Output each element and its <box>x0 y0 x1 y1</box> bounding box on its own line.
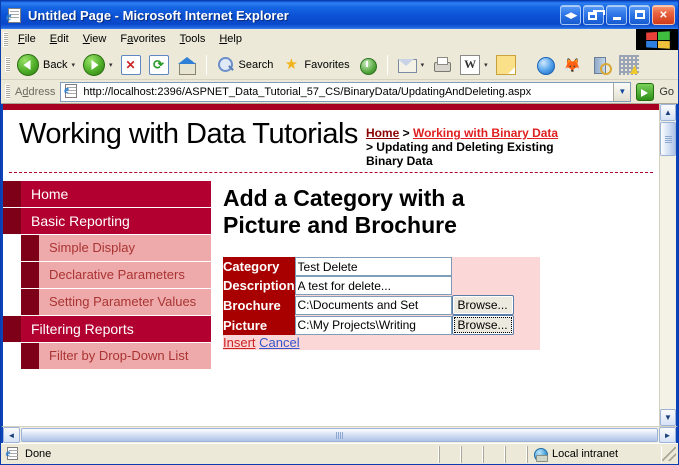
table-row: Brochure Browse... <box>223 295 540 315</box>
main-content: Add a Category with a Picture and Brochu… <box>211 173 659 350</box>
label-brochure: Brochure <box>223 295 295 315</box>
cell-category-input <box>295 257 452 276</box>
history-icon <box>358 55 378 75</box>
label-picture: Picture <box>223 315 295 335</box>
restore-down-button[interactable] <box>583 5 604 25</box>
horizontal-scrollbar[interactable]: ◄ ► <box>1 426 678 443</box>
scroll-down-button[interactable]: ▼ <box>660 409 676 426</box>
sidebar-item-declarative-parameters[interactable]: Declarative Parameters <box>39 262 211 289</box>
sidebar-item-setting-parameter-values[interactable]: Setting Parameter Values <box>39 289 211 316</box>
form-actions: Insert Cancel <box>223 335 540 350</box>
messenger-button[interactable] <box>531 53 559 77</box>
toolbar-separator-2 <box>387 55 388 75</box>
notes-icon <box>496 55 516 75</box>
close-button[interactable]: ✕ <box>652 5 675 25</box>
status-message: e Done <box>1 446 439 463</box>
title-bar: e Untitled Page - Microsoft Internet Exp… <box>1 1 678 29</box>
mail-dropdown-caret[interactable]: ▾ <box>421 61 425 69</box>
stop-icon <box>121 55 141 75</box>
browser-window: e Untitled Page - Microsoft Internet Exp… <box>0 0 679 465</box>
category-insert-form: Category Description <box>223 257 540 350</box>
breadcrumb: Home > Working with Binary Data > Updati… <box>358 114 573 168</box>
go-arrow-icon <box>635 82 655 102</box>
msn-button[interactable] <box>615 53 643 77</box>
forward-arrow-icon <box>83 54 105 76</box>
back-dropdown-caret[interactable]: ▾ <box>71 61 75 69</box>
search-icon <box>216 55 236 75</box>
status-pane-3 <box>483 446 505 463</box>
toolbar-separator <box>206 55 207 75</box>
word-edit-icon <box>460 55 480 75</box>
restore-down-icon <box>588 12 597 20</box>
go-label: Go <box>659 86 674 98</box>
address-input[interactable]: e http://localhost:2396/ASPNET_Data_Tuto… <box>60 82 631 102</box>
search-button[interactable]: Search <box>212 53 278 77</box>
table-row: Picture Browse... <box>223 315 540 335</box>
address-dropdown-button[interactable]: ▼ <box>613 83 630 101</box>
print-button[interactable] <box>428 53 456 77</box>
status-text: Done <box>25 448 51 460</box>
sidebar-item-filter-by-drop-down-list[interactable]: Filter by Drop-Down List <box>39 343 211 370</box>
horizontal-scroll-thumb[interactable] <box>21 428 658 442</box>
back-button[interactable]: Back ▾ <box>13 52 79 78</box>
insert-link[interactable]: Insert <box>223 335 256 350</box>
word-dropdown-caret[interactable]: ▾ <box>484 61 488 69</box>
notes-button[interactable] <box>492 53 520 77</box>
star-icon: ★ <box>281 55 301 75</box>
vertical-scroll-track[interactable] <box>660 157 676 409</box>
menu-view[interactable]: View <box>76 31 114 47</box>
vertical-scrollbar[interactable]: ▲ ▼ <box>659 104 676 426</box>
research-button[interactable] <box>587 53 615 77</box>
favorites-label: Favorites <box>304 59 349 71</box>
category-input[interactable] <box>295 257 452 276</box>
mail-button[interactable]: ▾ <box>393 53 429 77</box>
msn-toolbar-icon <box>619 55 639 75</box>
fox-button[interactable]: 🦊 <box>559 53 587 77</box>
globe-zone-icon <box>533 447 548 462</box>
page-body: Home Basic Reporting Simple Display Decl… <box>3 173 659 370</box>
maximize-icon <box>635 10 645 19</box>
page-viewport: Working with Data Tutorials Home > Worki… <box>1 104 678 426</box>
stop-button[interactable] <box>117 53 145 77</box>
breadcrumb-sep-1: > <box>399 126 413 140</box>
edit-word-button[interactable]: ▾ <box>456 53 492 77</box>
table-row: Insert Cancel <box>223 335 540 350</box>
home-button[interactable] <box>173 53 201 77</box>
search-label: Search <box>239 59 274 71</box>
favorites-button[interactable]: ★ Favorites <box>277 53 353 77</box>
table-row: Description <box>223 276 540 295</box>
address-bar: Address e http://localhost:2396/ASPNET_D… <box>1 80 678 104</box>
content-heading: Add a Category with a Picture and Brochu… <box>223 185 523 239</box>
close-icon: ✕ <box>653 6 674 24</box>
refresh-icon <box>149 55 169 75</box>
breadcrumb-section-link[interactable]: Working with Binary Data <box>413 126 558 140</box>
menu-bar: FFileile Edit View Favorites Tools Help <box>1 29 678 50</box>
label-category: Category <box>223 257 295 276</box>
page-icon: e <box>6 447 21 462</box>
menu-favorites[interactable]: Favorites <box>113 31 172 47</box>
cell-description-input <box>295 276 452 295</box>
maximize-button[interactable] <box>629 5 650 25</box>
scroll-up-button[interactable]: ▲ <box>660 104 676 121</box>
label-description: Description <box>223 276 295 295</box>
status-bar: e Done Local intranet <box>1 443 678 464</box>
forward-dropdown-caret[interactable]: ▾ <box>109 61 113 69</box>
page-icon: e <box>64 84 80 100</box>
address-url-text: http://localhost:2396/ASPNET_Data_Tutori… <box>83 86 613 98</box>
page-title: Working with Data Tutorials <box>3 114 358 151</box>
security-zone[interactable]: Local intranet <box>527 446 662 463</box>
sidebar-item-basic-reporting[interactable]: Basic Reporting <box>21 208 211 235</box>
minimize-icon <box>613 17 621 20</box>
web-page-content: Working with Data Tutorials Home > Worki… <box>3 104 659 426</box>
research-icon <box>591 55 611 75</box>
scroll-right-button[interactable]: ► <box>659 427 676 443</box>
resize-grip[interactable] <box>662 447 676 461</box>
fox-icon: 🦊 <box>563 55 583 75</box>
picture-browse-button[interactable]: Browse... <box>452 315 514 335</box>
address-grip[interactable] <box>5 84 10 99</box>
cell-picture-file: Browse... <box>295 315 540 335</box>
browser-toolbar: Back ▾ ▾ Search ★ Favorites <box>1 50 678 80</box>
zone-text: Local intranet <box>552 448 618 460</box>
brochure-file-path-input[interactable] <box>295 296 452 315</box>
picture-file-path-input[interactable] <box>295 316 452 335</box>
sidebar-item-filtering-reports[interactable]: Filtering Reports <box>21 316 211 343</box>
minimize-button[interactable] <box>606 5 627 25</box>
back-label: Back <box>43 59 67 71</box>
menu-help[interactable]: Help <box>212 31 249 47</box>
cell-brochure-file: Browse... <box>295 295 540 315</box>
sidebar-nav: Home Basic Reporting Simple Display Decl… <box>3 173 211 370</box>
mail-icon <box>397 55 417 75</box>
scroll-left-button[interactable]: ◄ <box>3 427 20 443</box>
restore-arrows-button[interactable]: ◀▶ <box>560 5 581 25</box>
menu-file[interactable]: FFileile <box>11 31 43 47</box>
cell-description-pad <box>452 276 540 295</box>
status-pane-4 <box>505 446 527 463</box>
toolbar-grip[interactable] <box>5 57 10 72</box>
cell-category-pad <box>452 257 540 276</box>
home-icon <box>177 55 197 75</box>
refresh-button[interactable] <box>145 53 173 77</box>
status-pane-2 <box>461 446 483 463</box>
breadcrumb-current: Updating and Deleting Existing Binary Da… <box>366 140 554 168</box>
status-pane-1 <box>439 446 461 463</box>
restore-arrows-icon: ◀▶ <box>561 6 580 24</box>
forward-button[interactable]: ▾ <box>79 52 117 78</box>
window-controls: ◀▶ ✕ <box>560 5 675 25</box>
address-label: Address <box>13 86 60 98</box>
table-row: Category <box>223 257 540 276</box>
menu-grip[interactable] <box>3 32 8 47</box>
print-icon <box>432 55 452 75</box>
menu-edit[interactable]: Edit <box>43 31 76 47</box>
menu-tools[interactable]: Tools <box>173 31 213 47</box>
sidebar-item-home[interactable]: Home <box>21 181 211 208</box>
ie-page-icon: e <box>6 7 23 24</box>
page-header: Working with Data Tutorials Home > Worki… <box>3 110 659 168</box>
brochure-browse-button[interactable]: Browse... <box>452 295 514 315</box>
breadcrumb-sep-2: > <box>366 140 376 154</box>
description-input[interactable] <box>295 276 452 295</box>
breadcrumb-home-link[interactable]: Home <box>366 126 399 140</box>
messenger-icon <box>535 55 555 75</box>
back-arrow-icon <box>17 54 39 76</box>
windows-flag-logo <box>636 29 678 50</box>
sidebar-item-simple-display[interactable]: Simple Display <box>39 235 211 262</box>
history-button[interactable] <box>354 53 382 77</box>
cancel-link[interactable]: Cancel <box>259 335 299 350</box>
window-title: Untitled Page - Microsoft Internet Explo… <box>28 8 560 23</box>
vertical-scroll-thumb[interactable] <box>660 122 676 156</box>
go-button[interactable]: Go <box>631 82 678 102</box>
